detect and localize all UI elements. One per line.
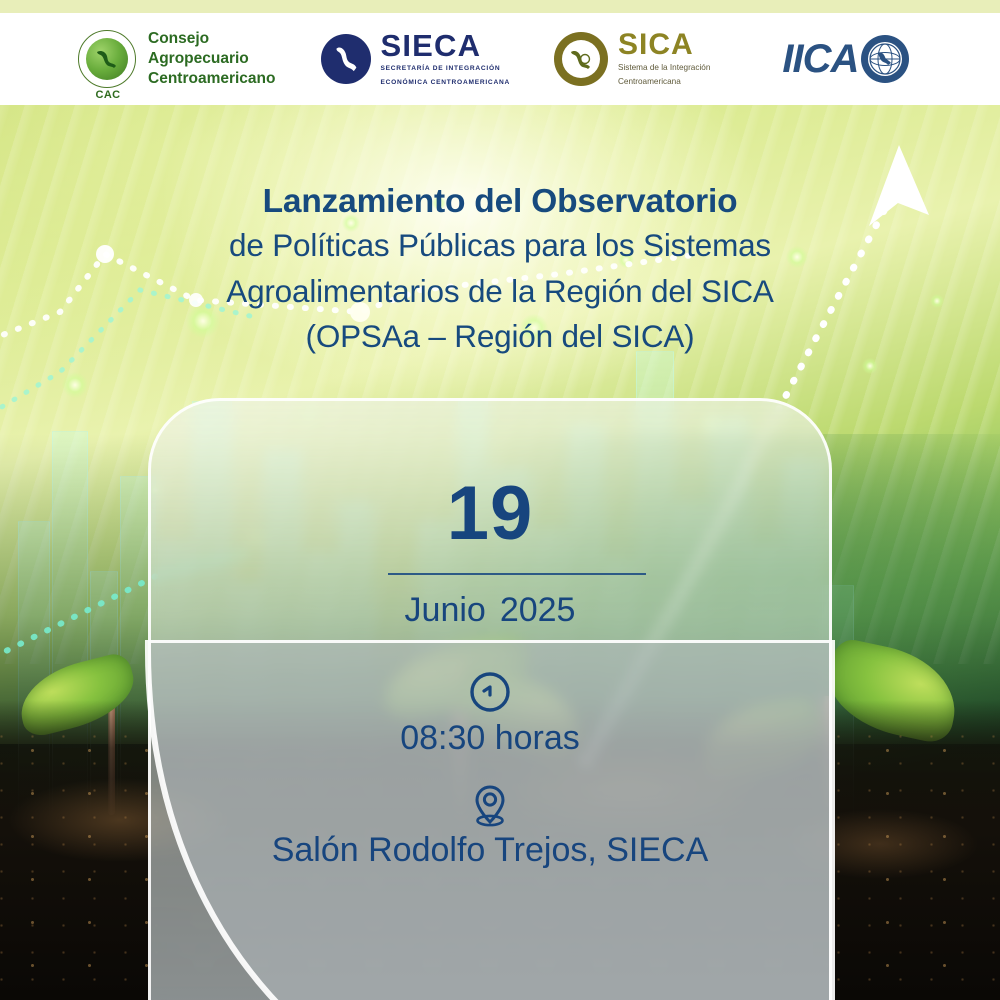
sica-emblem-icon xyxy=(568,47,594,71)
logo-sieca: SIECA SECRETARÍA DE INTEGRACIÓN ECONÓMIC… xyxy=(321,30,510,87)
location-pin-icon xyxy=(469,782,511,828)
event-month: Junio xyxy=(405,591,486,629)
globe-icon xyxy=(868,42,902,76)
central-america-map-icon xyxy=(95,48,119,70)
poster-title: Lanzamiento del Observatorio de Política… xyxy=(0,182,1000,360)
logo-row: CAC Consejo Agropecuario Centroamericano… xyxy=(0,13,1000,105)
cac-seal-icon: CAC xyxy=(78,30,136,88)
central-america-map-icon xyxy=(333,44,359,74)
logo-cac: CAC Consejo Agropecuario Centroamericano xyxy=(78,29,275,88)
title-line-3: Agroalimentarios de la Región del SICA xyxy=(0,269,1000,315)
date-divider xyxy=(388,573,646,575)
logo-sica: SICA Sistema de la Integración Centroame… xyxy=(554,30,710,88)
title-line-4: (OPSAa – Región del SICA) xyxy=(0,314,1000,360)
location-icon-wrap xyxy=(148,782,832,828)
clock-icon xyxy=(468,670,512,714)
title-line-1: Lanzamiento del Observatorio xyxy=(0,182,1000,223)
clock-icon-wrap xyxy=(148,670,832,714)
sica-sub-1: Sistema de la Integración xyxy=(618,62,710,74)
sieca-sub-2: ECONÓMICA CENTROAMERICANA xyxy=(380,78,510,88)
cac-line-1: Consejo xyxy=(148,29,275,49)
event-month-year: Junio2025 xyxy=(148,590,832,631)
sica-title: SICA xyxy=(618,30,710,60)
event-poster: CAC Consejo Agropecuario Centroamericano… xyxy=(0,0,1000,1000)
event-time: 08:30 horas xyxy=(148,718,832,759)
cac-line-3: Centroamericano xyxy=(148,69,275,89)
header-top-stripe xyxy=(0,0,1000,13)
cac-acronym: CAC xyxy=(79,89,137,101)
iica-wordmark: IICA xyxy=(782,39,858,79)
cac-wordmark: Consejo Agropecuario Centroamericano xyxy=(148,29,275,88)
sieca-circle-icon xyxy=(321,34,371,84)
event-year: 2025 xyxy=(500,591,576,629)
sica-sub-2: Centroamericana xyxy=(618,76,710,88)
event-details: 19 Junio2025 08:30 horas Salón Rodolfo T… xyxy=(148,398,832,1000)
title-line-2: de Políticas Públicas para los Sistemas xyxy=(0,223,1000,269)
iica-globe-icon xyxy=(861,35,909,83)
sica-wordmark: SICA Sistema de la Integración Centroame… xyxy=(618,30,710,88)
event-venue: Salón Rodolfo Trejos, SIECA xyxy=(98,830,882,871)
sieca-sub-1: SECRETARÍA DE INTEGRACIÓN xyxy=(380,64,510,74)
sieca-title: SIECA xyxy=(380,30,510,61)
sieca-wordmark: SIECA SECRETARÍA DE INTEGRACIÓN ECONÓMIC… xyxy=(380,30,510,87)
logo-iica: IICA xyxy=(782,35,909,83)
event-day: 19 xyxy=(148,476,832,552)
cac-line-2: Agropecuario xyxy=(148,49,275,69)
sica-seal-icon xyxy=(554,32,608,86)
